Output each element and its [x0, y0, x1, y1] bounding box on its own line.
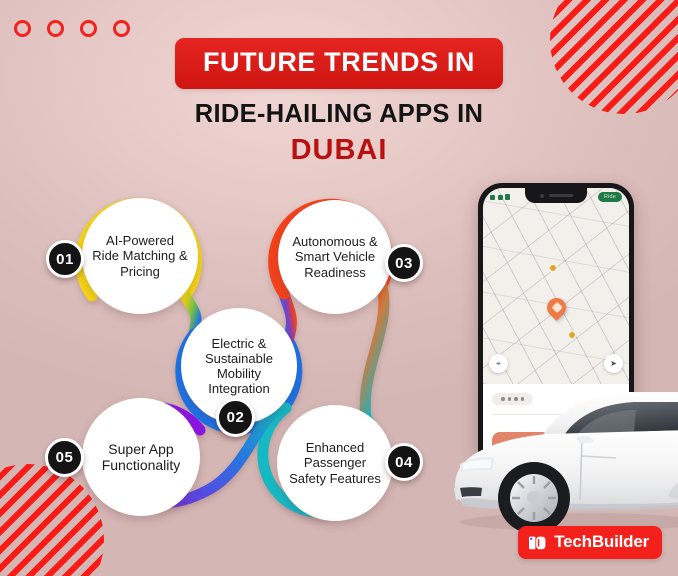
techbuilder-b-icon: [528, 533, 547, 552]
status-pill: Ride: [598, 192, 622, 202]
trend-node-03-label: Autonomous & Smart Vehicle Readiness: [278, 234, 392, 279]
wifi-icon: [498, 195, 503, 200]
car-illustration: [430, 372, 678, 552]
map-waypoint-icon[interactable]: [568, 331, 576, 339]
map-canvas[interactable]: [483, 188, 629, 384]
signal-icon: [505, 194, 510, 200]
dot-icon: [80, 20, 97, 37]
trend-badge-01: 01: [46, 240, 84, 278]
trend-node-03-disc: Autonomous & Smart Vehicle Readiness: [278, 200, 392, 314]
locate-me-icon[interactable]: ⌖: [489, 354, 508, 373]
trend-node-02-label: Electric & Sustainable Mobility Integrat…: [181, 336, 297, 396]
dot-icon: [113, 20, 130, 37]
dot-icon: [14, 20, 31, 37]
phone-notch: [525, 188, 587, 203]
navigate-icon[interactable]: ➤: [604, 354, 623, 373]
trend-badge-05: 05: [45, 438, 84, 477]
battery-icon: [490, 195, 495, 200]
front-camera-icon: [540, 194, 544, 198]
trend-node-05-disc: Super App Functionality: [82, 398, 200, 516]
trend-node-01[interactable]: AI-Powered Ride Matching & Pricing: [82, 198, 198, 314]
trend-badge-02: 02: [216, 398, 255, 437]
status-indicators: [490, 194, 510, 200]
dot-row-decoration: [14, 20, 130, 37]
brand-logo-text: TechBuilder: [554, 532, 649, 552]
page-city: DUBAI: [0, 134, 678, 167]
trends-flow-diagram: AI-Powered Ride Matching & Pricing 01 El…: [0, 168, 470, 568]
trend-badge-04: 04: [385, 443, 423, 481]
trend-node-05-label: Super App Functionality: [82, 441, 200, 473]
trend-node-04[interactable]: Enhanced Passenger Safety Features: [277, 405, 393, 521]
brand-logo[interactable]: TechBuilder: [518, 526, 662, 559]
page-title: FUTURE TRENDS IN: [175, 38, 503, 89]
trend-node-03[interactable]: Autonomous & Smart Vehicle Readiness: [278, 200, 392, 314]
trend-node-01-disc: AI-Powered Ride Matching & Pricing: [82, 198, 198, 314]
trend-node-04-label: Enhanced Passenger Safety Features: [277, 440, 393, 485]
trend-badge-03: 03: [385, 244, 423, 282]
map-waypoint-icon[interactable]: [549, 264, 557, 272]
infographic-poster: FUTURE TRENDS IN RIDE-HAILING APPS IN DU…: [0, 0, 678, 576]
trend-node-05[interactable]: Super App Functionality: [82, 398, 200, 516]
trend-node-01-label: AI-Powered Ride Matching & Pricing: [82, 233, 198, 278]
trend-node-04-disc: Enhanced Passenger Safety Features: [277, 405, 393, 521]
heading-block: FUTURE TRENDS IN RIDE-HAILING APPS IN DU…: [0, 38, 678, 167]
speaker-icon: [549, 194, 573, 197]
dot-icon: [47, 20, 64, 37]
page-subtitle: RIDE-HAILING APPS IN: [0, 100, 678, 129]
